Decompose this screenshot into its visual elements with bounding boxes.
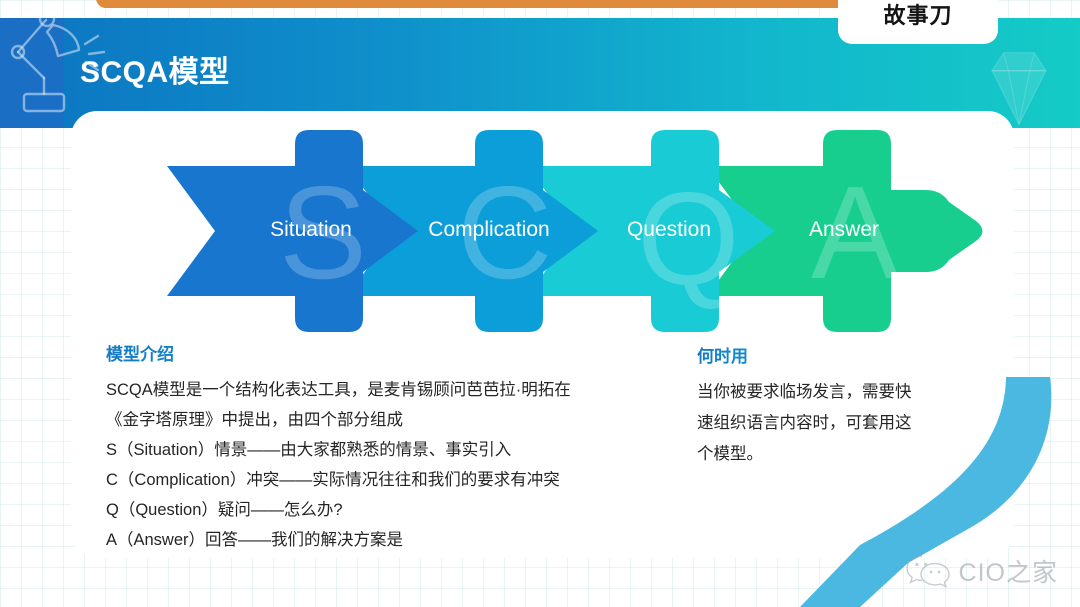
intro-line-3: S（Situation）情景——由大家都熟悉的情景、事实引入 xyxy=(106,435,646,465)
intro-heading: 模型介绍 xyxy=(106,340,646,365)
slide-canvas: 故事刀 SCQA模型 S C Q A Situation xyxy=(0,0,1080,607)
wechat-icon xyxy=(906,554,950,588)
ghost-letter-q: Q xyxy=(637,165,740,312)
scqa-arrow-flow: S C Q A Situation Complication Question … xyxy=(71,126,1014,336)
intro-line-4: C（Complication）冲突——实际情况往往和我们的要求有冲突 xyxy=(106,465,646,495)
intro-line-6: A（Answer）回答——我们的解决方案是 xyxy=(106,525,646,555)
arrow-chevrons: S C Q A xyxy=(71,126,1014,336)
ghost-letter-a: A xyxy=(811,159,899,306)
usage-heading: 何时用 xyxy=(697,342,912,367)
intro-column: 模型介绍 SCQA模型是一个结构化表达工具，是麦肯锡顾问芭芭拉·明拓在 《金字塔… xyxy=(106,340,646,555)
intro-line-1: SCQA模型是一个结构化表达工具，是麦肯锡顾问芭芭拉·明拓在 xyxy=(106,375,646,405)
watermark: CIO之家 xyxy=(906,553,1058,589)
ghost-letter-c: C xyxy=(457,159,552,306)
intro-line-5: Q（Question）疑问——怎么办? xyxy=(106,495,646,525)
intro-line-2: 《金字塔原理》中提出，由四个部分组成 xyxy=(106,405,646,435)
usage-text: 当你被要求临场发言，需要快速组织语言内容时，可套用这个模型。 xyxy=(697,377,912,470)
badge-label: 故事刀 xyxy=(838,0,998,38)
usage-column: 何时用 当你被要求临场发言，需要快速组织语言内容时，可套用这个模型。 xyxy=(697,342,912,470)
ghost-letter-s: S xyxy=(279,159,367,306)
watermark-label: CIO之家 xyxy=(959,553,1058,589)
page-title: SCQA模型 xyxy=(80,47,230,91)
